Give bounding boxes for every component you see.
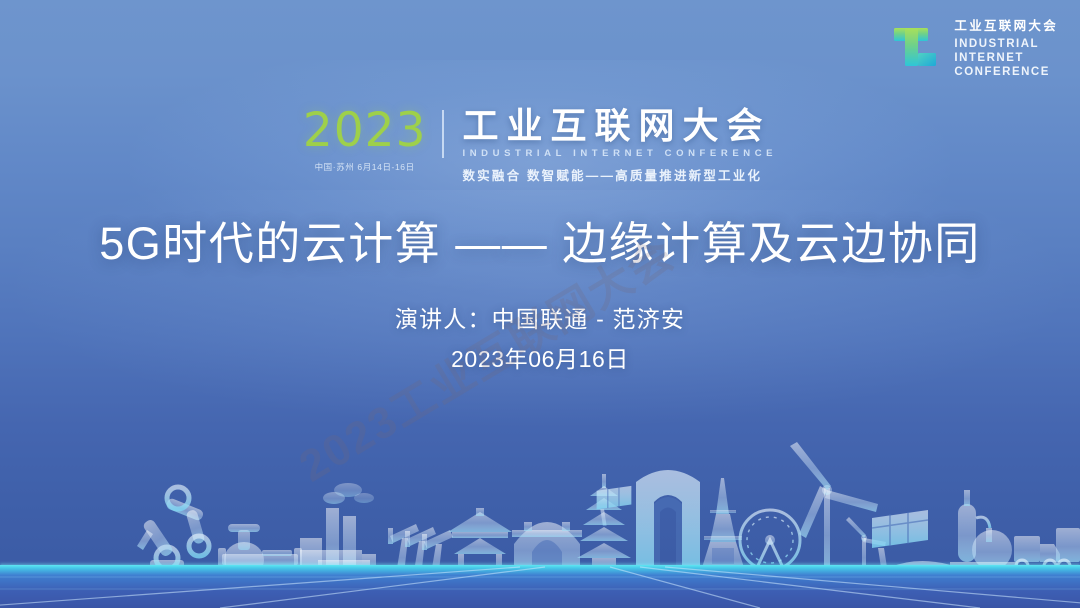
gate-of-the-orient-icon: [636, 470, 700, 574]
freight-trucks-icon: [1014, 528, 1080, 572]
horizon-glow: [0, 562, 1080, 572]
corner-conference-logo: 工业互联网大会 INDUSTRIAL INTERNET CONFERENCE: [888, 20, 1058, 80]
industrial-skyline: [0, 378, 1080, 608]
event-location-date: 中国·苏州 6月14日-16日: [315, 161, 415, 173]
event-logo-title-block: 工业互联网大会 INDUSTRIAL INTERNET CONFERENCE 数…: [462, 108, 777, 184]
ferris-wheel-icon: [740, 510, 800, 575]
corner-logo-en-line1: INDUSTRIAL: [954, 37, 1058, 51]
arch-bridge-icon: [512, 522, 582, 574]
event-slogan: 数实融合 数智赋能——高质量推进新型工业化: [462, 165, 762, 184]
ground-plane: [0, 565, 1080, 608]
corner-logo-cn: 工业互联网大会: [954, 20, 1058, 33]
chinese-pavilion-icon: [448, 508, 512, 575]
wind-turbine-icon: [790, 442, 886, 574]
chemical-tanks-icon: [950, 490, 1018, 572]
presenter-line: 演讲人：中国联通 - 范济安: [0, 300, 1080, 334]
pagoda-tower-icon: [577, 474, 631, 574]
presentation-slide: 工业互联网大会 INDUSTRIAL INTERNET CONFERENCE 2…: [0, 0, 1080, 608]
presentation-date: 2023年06月16日: [0, 340, 1080, 374]
solar-panels-icon: [597, 486, 928, 578]
event-logo-year-block: 2023 中国·苏州 6月14日-16日: [303, 108, 443, 173]
corner-logo-en-line2: INTERNET: [954, 51, 1058, 65]
lattice-tower-icon: [700, 478, 746, 574]
robot-arm-icon: [137, 487, 209, 572]
event-logo: 2023 中国·苏州 6月14日-16日 工业互联网大会 INDUSTRIAL …: [0, 108, 1080, 184]
factory-chimneys-icon: [300, 483, 376, 574]
event-title-en: INDUSTRIAL INTERNET CONFERENCE: [462, 148, 777, 159]
airport-terminal-icon: [876, 561, 974, 574]
industrial-valve-icon: [218, 524, 302, 578]
corner-logo-text: 工业互联网大会 INDUSTRIAL INTERNET CONFERENCE: [954, 20, 1058, 80]
event-year: 2023: [303, 108, 427, 154]
corner-logo-en-line3: CONFERENCE: [954, 65, 1058, 79]
oil-pumpjacks-icon: [388, 524, 453, 580]
conference-t-mark-icon: [888, 22, 944, 78]
corner-logo-en: INDUSTRIAL INTERNET CONFERENCE: [954, 37, 1058, 80]
event-title-cn: 工业互联网大会: [462, 108, 770, 144]
slide-title: 5G时代的云计算 —— 边缘计算及云边协同: [0, 207, 1080, 272]
event-logo-divider: [442, 110, 444, 158]
